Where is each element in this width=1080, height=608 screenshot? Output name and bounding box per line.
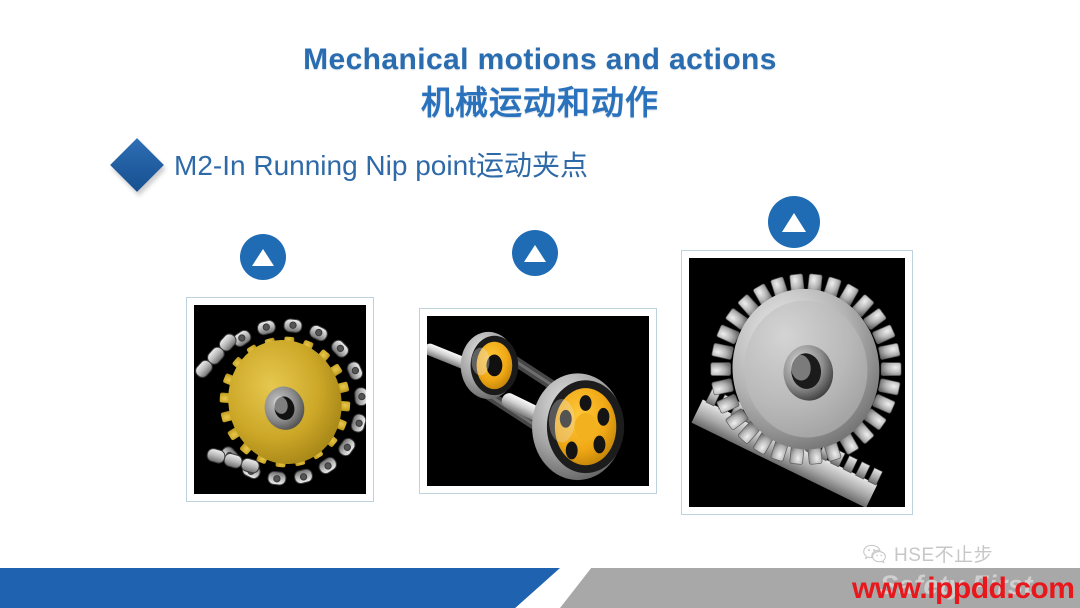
footer-band-blue (0, 568, 560, 608)
watermark-url: www.ippdd.com (852, 572, 1074, 606)
wechat-badge: HSE不止步 (862, 540, 993, 567)
diamond-bullet-icon (112, 140, 174, 192)
triangle-glyph (782, 213, 806, 232)
photo-chain-sprocket-image (194, 305, 366, 494)
up-triangle-marker-icon-1 (240, 234, 286, 280)
up-triangle-marker-icon-3 (768, 196, 820, 248)
photo-belt-pulley-image (427, 316, 649, 486)
triangle-glyph (252, 249, 274, 266)
photo-rack-pinion-image (689, 258, 905, 507)
rack-pinion-illustration (689, 258, 905, 507)
slide-canvas: Mechanical motions and actions 机械运动和动作 M… (0, 0, 1080, 608)
page-title-chinese: 机械运动和动作 (0, 82, 1080, 124)
slide-title-block: Mechanical motions and actions 机械运动和动作 (0, 40, 1080, 124)
up-triangle-marker-icon-2 (512, 230, 558, 276)
photo-belt-pulley (419, 308, 657, 494)
wechat-label: HSE不止步 (894, 540, 993, 567)
belt-pulley-illustration (427, 316, 649, 486)
wechat-icon (862, 543, 888, 565)
footer-subscribe-text: 微信订阅：HSE不止步 (80, 7, 322, 41)
photo-chain-sprocket (186, 297, 374, 502)
page-title-english: Mechanical motions and actions (0, 40, 1080, 80)
bullet-row: M2-In Running Nip point运动夹点 (112, 140, 588, 192)
chain-sprocket-illustration (194, 305, 366, 494)
diamond-bullet-shape (110, 138, 164, 192)
bullet-label: M2-In Running Nip point运动夹点 (174, 149, 588, 183)
triangle-glyph (524, 245, 546, 262)
photo-rack-pinion (681, 250, 913, 515)
